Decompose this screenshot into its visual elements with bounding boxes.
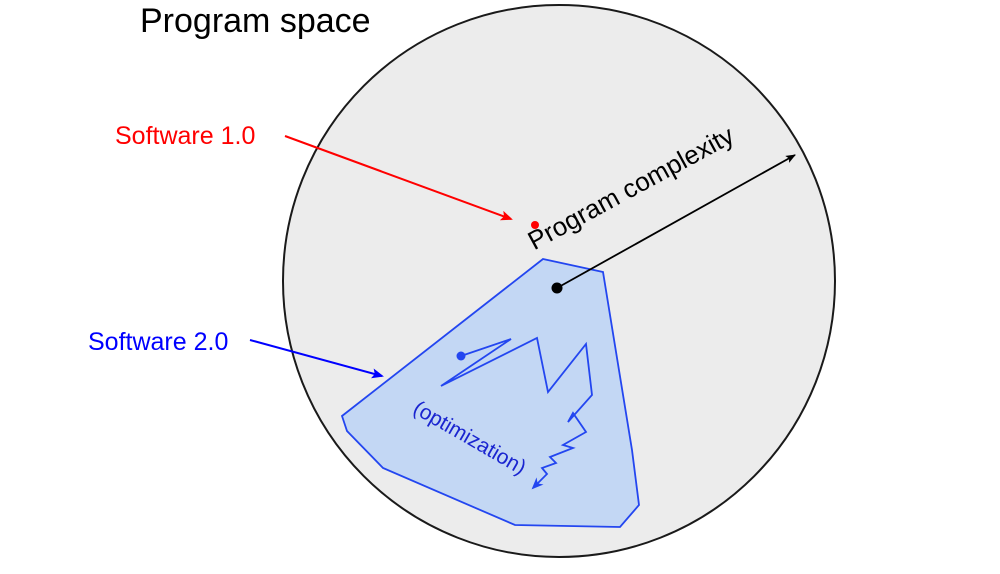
software-1-0-label: Software 1.0 bbox=[115, 124, 255, 149]
diagram-canvas: Program space Software 1.0 Software 2.0 … bbox=[0, 0, 1000, 574]
software-2-0-point bbox=[552, 283, 563, 294]
optimization-start-point bbox=[457, 352, 466, 361]
diagram-title: Program space bbox=[140, 4, 371, 38]
diagram-svg bbox=[0, 0, 1000, 574]
software-2-0-label: Software 2.0 bbox=[88, 330, 228, 355]
